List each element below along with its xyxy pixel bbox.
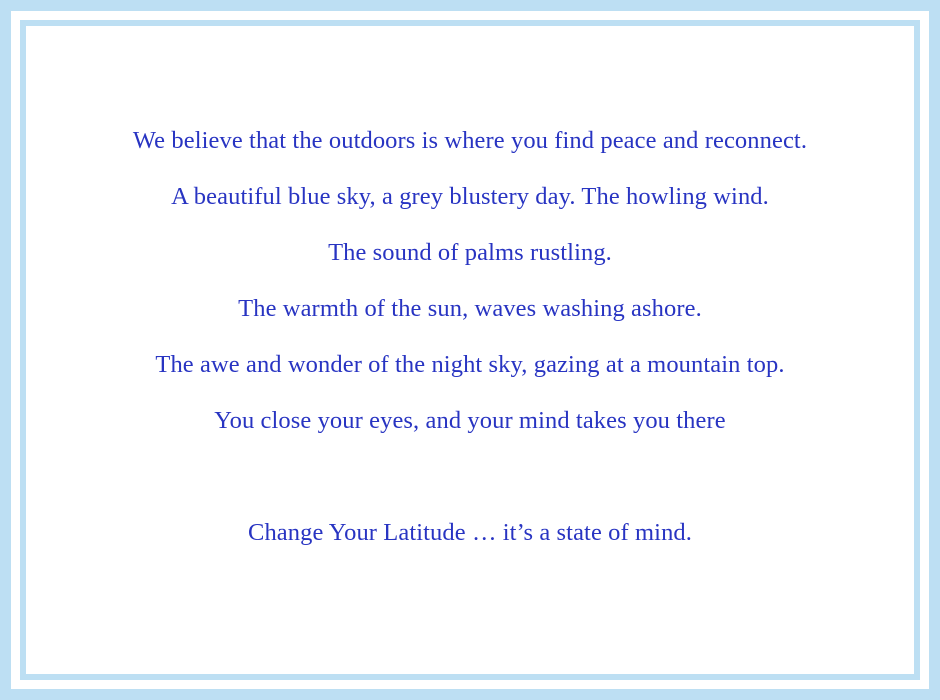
manifesto-text-block: We believe that the outdoors is where yo… (26, 113, 914, 561)
manifesto-line-4: The warmth of the sun, waves washing ash… (26, 281, 914, 337)
manifesto-line-2: A beautiful blue sky, a grey blustery da… (26, 169, 914, 225)
slide-root: We believe that the outdoors is where yo… (0, 0, 940, 700)
manifesto-line-5: The awe and wonder of the night sky, gaz… (26, 337, 914, 393)
manifesto-line-3: The sound of palms rustling. (26, 225, 914, 281)
slide-canvas: We believe that the outdoors is where yo… (26, 26, 914, 674)
frame-white-gap: We believe that the outdoors is where yo… (11, 11, 929, 689)
manifesto-line-6: You close your eyes, and your mind takes… (26, 393, 914, 449)
manifesto-tagline: Change Your Latitude … it’s a state of m… (26, 505, 914, 561)
manifesto-line-1: We believe that the outdoors is where yo… (26, 113, 914, 169)
manifesto-blank-spacer (26, 449, 914, 505)
frame-inner-blue-rule: We believe that the outdoors is where yo… (20, 20, 920, 680)
